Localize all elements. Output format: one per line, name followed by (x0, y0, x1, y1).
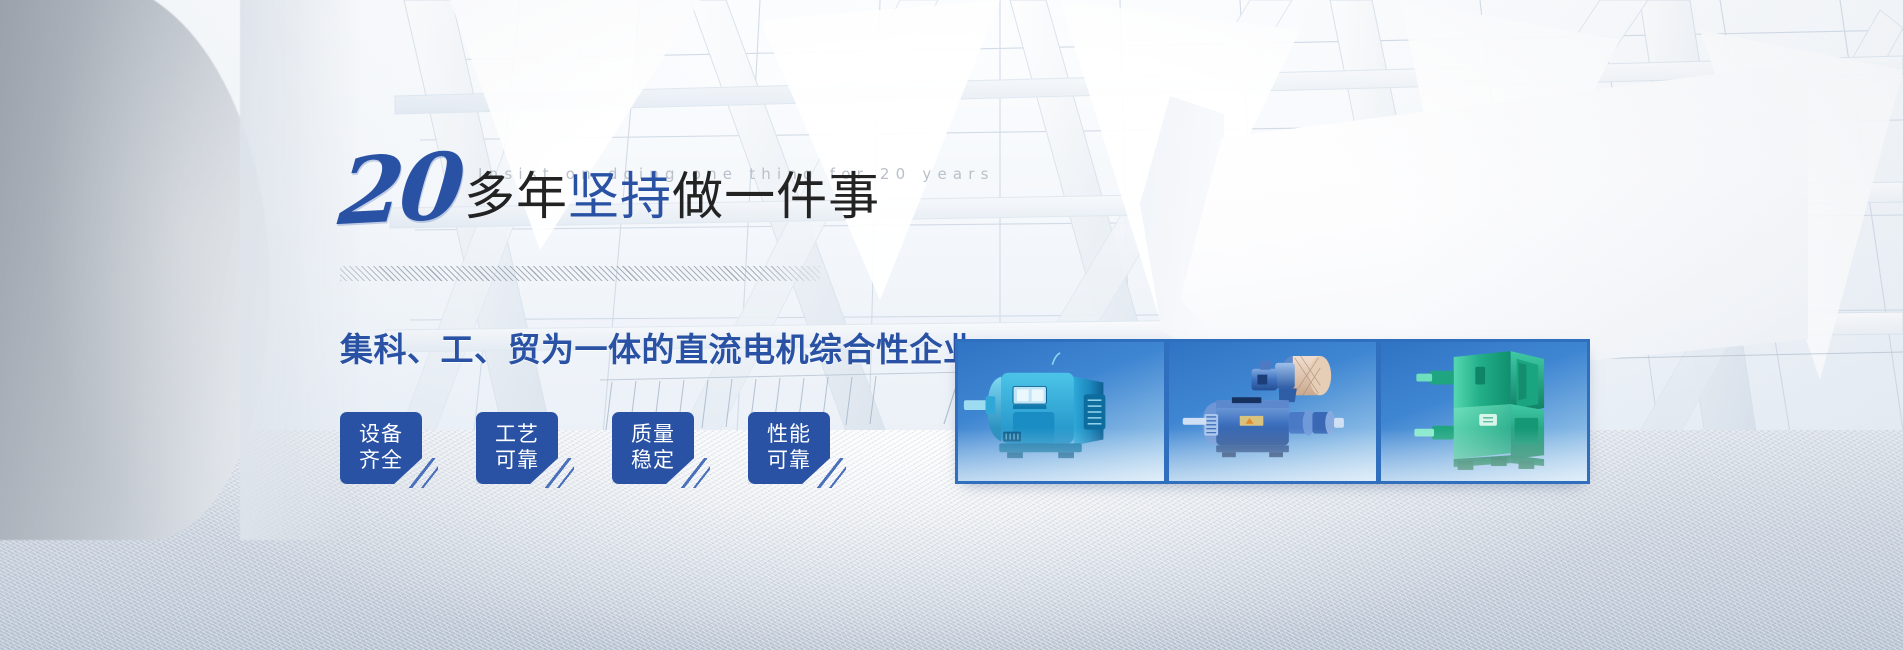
badge-tail-icon (816, 458, 846, 488)
copy-block: Insist on doing one thing for 20 years 2… (0, 0, 1903, 650)
badge-line-1: 工艺 (495, 422, 539, 448)
headline-row: 20 多年坚持做一件事 (340, 152, 880, 227)
product-cell[interactable] (1169, 342, 1375, 481)
badge-tail-icon (680, 458, 710, 488)
headline-text: 多年坚持做一件事 (464, 172, 880, 223)
feature-badge-list: 设备 齐全 工艺 可靠 质量 稳定 (340, 412, 884, 484)
hero-banner: Insist on doing one thing for 20 years 2… (0, 0, 1903, 650)
dc-motor-green-zzj-icon (1381, 342, 1587, 481)
feature-badge[interactable]: 性能 可靠 (748, 412, 830, 484)
product-image-panel[interactable] (955, 339, 1590, 484)
product-cell[interactable] (958, 342, 1164, 481)
subtitle-text: 集科、工、贸为一体的直流电机综合性企业 (340, 323, 977, 371)
badge-line-1: 性能 (767, 422, 811, 448)
headline-part-1: 多年 (464, 168, 568, 227)
badge-line-1: 设备 (359, 422, 403, 448)
badge-tail-icon (544, 458, 574, 488)
feature-badge[interactable]: 工艺 可靠 (476, 412, 558, 484)
badge-line-2: 齐全 (359, 448, 403, 474)
badge-line-2: 可靠 (767, 448, 811, 474)
badge-tail-icon (408, 458, 438, 488)
badge-line-2: 可靠 (495, 448, 539, 474)
dc-motor-blue-large-icon (958, 342, 1164, 481)
feature-badge[interactable]: 质量 稳定 (612, 412, 694, 484)
hatched-divider (340, 266, 820, 281)
product-cell[interactable] (1381, 342, 1587, 481)
headline-part-2: 坚持 (568, 168, 672, 227)
feature-badge[interactable]: 设备 齐全 (340, 412, 422, 484)
headline-number: 20 (336, 149, 463, 231)
badge-line-1: 质量 (631, 422, 675, 448)
dc-motor-blue-blower-icon (1169, 342, 1375, 481)
badge-line-2: 稳定 (631, 448, 675, 474)
headline-part-3: 做一件事 (672, 168, 880, 227)
